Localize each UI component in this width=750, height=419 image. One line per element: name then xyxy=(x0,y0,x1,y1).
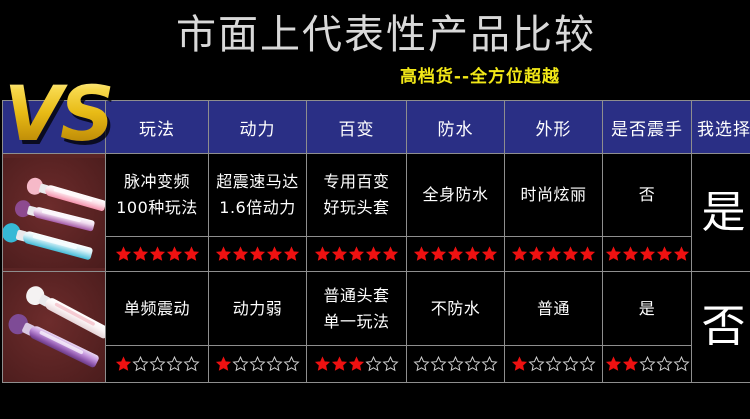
star-filled-icon xyxy=(266,246,283,262)
star-filled-icon xyxy=(365,246,382,262)
cell-line: 好玩头套 xyxy=(307,195,406,221)
star-filled-icon xyxy=(232,246,249,262)
column-header-play: 玩法 xyxy=(106,101,209,154)
star-filled-icon xyxy=(149,246,166,262)
star-filled-icon xyxy=(348,246,365,262)
star-filled-icon xyxy=(511,246,528,262)
product-art-ordinary xyxy=(3,272,105,382)
comparison-infographic: 市面上代表性产品比较 高档货--全方位超越 VS 玩法 动力 百变 防水 外形 … xyxy=(0,0,750,419)
column-header-product xyxy=(3,101,106,154)
cell-line: 1.6倍动力 xyxy=(209,195,306,221)
star-filled-icon xyxy=(605,246,622,262)
star-empty-icon xyxy=(562,356,579,372)
column-header-choice: 我选择 xyxy=(692,101,750,154)
stars-waterproof-ordinary xyxy=(407,346,505,383)
stars-power-ordinary xyxy=(209,346,307,383)
cell-line: 时尚炫丽 xyxy=(505,182,602,208)
star-filled-icon xyxy=(545,246,562,262)
star-filled-icon xyxy=(382,246,399,262)
star-filled-icon xyxy=(283,246,300,262)
product-image-premium xyxy=(3,154,106,272)
star-empty-icon xyxy=(183,356,200,372)
stars-waterproof-premium xyxy=(407,237,505,272)
table-row-stars xyxy=(3,346,750,383)
cell-line: 普通 xyxy=(505,296,602,322)
star-empty-icon xyxy=(166,356,183,372)
cell-play-ordinary: 单频震动 xyxy=(106,272,209,346)
cell-line: 动力弱 xyxy=(209,296,306,322)
cell-line: 全身防水 xyxy=(407,182,504,208)
choice-ordinary: 否 xyxy=(692,272,750,383)
stars-play-premium xyxy=(106,237,209,272)
cell-line: 不防水 xyxy=(407,296,504,322)
page-subtitle: 高档货--全方位超越 xyxy=(0,66,750,88)
cell-versatile-premium: 专用百变 好玩头套 xyxy=(307,154,407,237)
star-filled-icon xyxy=(656,246,673,262)
star-filled-icon xyxy=(511,356,528,372)
cell-line: 专用百变 xyxy=(307,169,406,195)
star-filled-icon xyxy=(249,246,266,262)
star-filled-icon xyxy=(447,246,464,262)
stars-shape-ordinary xyxy=(505,346,603,383)
star-empty-icon xyxy=(266,356,283,372)
star-filled-icon xyxy=(622,356,639,372)
star-empty-icon xyxy=(132,356,149,372)
star-empty-icon xyxy=(579,356,596,372)
cell-play-premium: 脉冲变频 100种玩法 xyxy=(106,154,209,237)
star-empty-icon xyxy=(545,356,562,372)
stars-shape-premium xyxy=(505,237,603,272)
star-filled-icon xyxy=(331,356,348,372)
stars-versatile-premium xyxy=(307,237,407,272)
star-empty-icon xyxy=(464,356,481,372)
star-empty-icon xyxy=(413,356,430,372)
cell-line: 超震速马达 xyxy=(209,169,306,195)
column-header-waterproof: 防水 xyxy=(407,101,505,154)
star-filled-icon xyxy=(430,246,447,262)
cell-vibrate-hand-premium: 否 xyxy=(603,154,692,237)
star-filled-icon xyxy=(579,246,596,262)
comparison-table: 玩法 动力 百变 防水 外形 是否震手 我选择 xyxy=(2,100,750,383)
column-header-versatile: 百变 xyxy=(307,101,407,154)
table-row: 单频震动 动力弱 普通头套 单一玩法 不防水 普通 是 否 xyxy=(3,272,750,346)
star-filled-icon xyxy=(132,246,149,262)
star-filled-icon xyxy=(215,356,232,372)
cell-line: 普通头套 xyxy=(307,283,406,309)
star-empty-icon xyxy=(149,356,166,372)
cell-power-ordinary: 动力弱 xyxy=(209,272,307,346)
star-empty-icon xyxy=(232,356,249,372)
stars-vibrate-hand-ordinary xyxy=(603,346,692,383)
star-empty-icon xyxy=(528,356,545,372)
cell-line: 100种玩法 xyxy=(106,195,208,221)
star-filled-icon xyxy=(215,246,232,262)
cell-waterproof-ordinary: 不防水 xyxy=(407,272,505,346)
star-filled-icon xyxy=(528,246,545,262)
star-filled-icon xyxy=(622,246,639,262)
star-filled-icon xyxy=(464,246,481,262)
star-filled-icon xyxy=(673,246,690,262)
table-head: 玩法 动力 百变 防水 外形 是否震手 我选择 xyxy=(3,101,750,154)
star-filled-icon xyxy=(605,356,622,372)
star-empty-icon xyxy=(249,356,266,372)
star-empty-icon xyxy=(673,356,690,372)
cell-line: 脉冲变频 xyxy=(106,169,208,195)
star-filled-icon xyxy=(115,356,132,372)
table-row-stars xyxy=(3,237,750,272)
star-empty-icon xyxy=(447,356,464,372)
column-header-power: 动力 xyxy=(209,101,307,154)
product-art-premium xyxy=(3,158,105,268)
star-filled-icon xyxy=(639,246,656,262)
star-empty-icon xyxy=(656,356,673,372)
star-filled-icon xyxy=(115,246,132,262)
star-empty-icon xyxy=(283,356,300,372)
table-row: 脉冲变频 100种玩法 超震速马达 1.6倍动力 专用百变 好玩头套 全身防水 … xyxy=(3,154,750,237)
cell-vibrate-hand-ordinary: 是 xyxy=(603,272,692,346)
star-empty-icon xyxy=(430,356,447,372)
cell-shape-ordinary: 普通 xyxy=(505,272,603,346)
stars-play-ordinary xyxy=(106,346,209,383)
choice-premium: 是 xyxy=(692,154,750,272)
star-filled-icon xyxy=(183,246,200,262)
star-filled-icon xyxy=(413,246,430,262)
cell-waterproof-premium: 全身防水 xyxy=(407,154,505,237)
stars-vibrate-hand-premium xyxy=(603,237,692,272)
table-body: 脉冲变频 100种玩法 超震速马达 1.6倍动力 专用百变 好玩头套 全身防水 … xyxy=(3,154,750,383)
star-empty-icon xyxy=(365,356,382,372)
star-filled-icon xyxy=(314,356,331,372)
cell-line: 单频震动 xyxy=(106,296,208,322)
table-header-row: 玩法 动力 百变 防水 外形 是否震手 我选择 xyxy=(3,101,750,154)
cell-line: 是 xyxy=(603,296,691,322)
star-empty-icon xyxy=(639,356,656,372)
column-header-shape: 外形 xyxy=(505,101,603,154)
star-filled-icon xyxy=(331,246,348,262)
star-filled-icon xyxy=(166,246,183,262)
star-empty-icon xyxy=(382,356,399,372)
star-filled-icon xyxy=(562,246,579,262)
cell-line: 单一玩法 xyxy=(307,309,406,335)
column-header-vibrate-hand: 是否震手 xyxy=(603,101,692,154)
star-filled-icon xyxy=(348,356,365,372)
cell-versatile-ordinary: 普通头套 单一玩法 xyxy=(307,272,407,346)
cell-power-premium: 超震速马达 1.6倍动力 xyxy=(209,154,307,237)
cell-line: 否 xyxy=(603,182,691,208)
star-filled-icon xyxy=(314,246,331,262)
star-filled-icon xyxy=(481,246,498,262)
stars-power-premium xyxy=(209,237,307,272)
star-empty-icon xyxy=(481,356,498,372)
cell-shape-premium: 时尚炫丽 xyxy=(505,154,603,237)
stars-versatile-ordinary xyxy=(307,346,407,383)
page-title: 市面上代表性产品比较 xyxy=(0,12,750,58)
product-image-ordinary xyxy=(3,272,106,383)
